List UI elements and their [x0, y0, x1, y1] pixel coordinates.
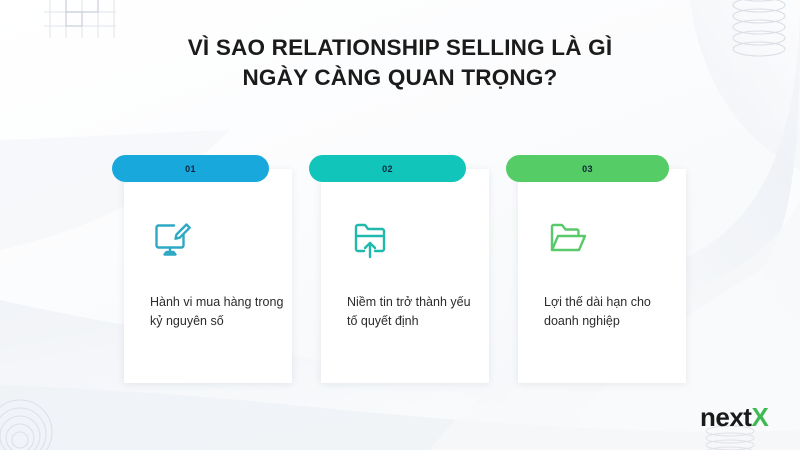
card-number-badge-01: 01 — [112, 155, 269, 182]
card-body-02: Niềm tin trở thành yếu tố quyết định — [321, 169, 489, 383]
logo-text-primary: next — [700, 402, 751, 432]
slide-title: VÌ SAO RELATIONSHIP SELLING LÀ GÌ NGÀY C… — [0, 33, 800, 93]
monitor-pencil-icon — [150, 216, 196, 262]
slide-title-line-2: NGÀY CÀNG QUAN TRỌNG? — [0, 63, 800, 93]
card-number-badge-02: 02 — [309, 155, 466, 182]
card-list: 01 Hành vi mua hàng trong kỷ nguyên số — [112, 155, 688, 385]
card-number-label-03: 03 — [582, 164, 593, 174]
folder-open-icon — [544, 216, 590, 262]
nextx-logo: nextX — [700, 404, 768, 430]
folder-upload-icon — [347, 216, 393, 262]
card-01[interactable]: 01 Hành vi mua hàng trong kỷ nguyên số — [112, 155, 292, 383]
card-02[interactable]: 02 Niềm tin trở thành yếu tố quyết đị — [309, 155, 489, 383]
card-number-label-02: 02 — [382, 164, 393, 174]
card-text-02: Niềm tin trở thành yếu tố quyết định — [347, 293, 482, 331]
slide-title-line-1: VÌ SAO RELATIONSHIP SELLING LÀ GÌ — [0, 33, 800, 63]
card-number-badge-03: 03 — [506, 155, 669, 182]
card-number-label-01: 01 — [185, 164, 196, 174]
slide-canvas: VÌ SAO RELATIONSHIP SELLING LÀ GÌ NGÀY C… — [0, 0, 800, 450]
card-text-01: Hành vi mua hàng trong kỷ nguyên số — [150, 293, 285, 331]
concentric-rings-icon — [0, 398, 66, 450]
card-body-01: Hành vi mua hàng trong kỷ nguyên số — [124, 169, 292, 383]
card-text-03: Lợi thế dài hạn cho doanh nghiệp — [544, 293, 679, 331]
card-03[interactable]: 03 Lợi thế dài hạn cho doanh nghiệp — [506, 155, 686, 383]
logo-text-accent: X — [751, 402, 768, 432]
card-body-03: Lợi thế dài hạn cho doanh nghiệp — [518, 169, 686, 383]
